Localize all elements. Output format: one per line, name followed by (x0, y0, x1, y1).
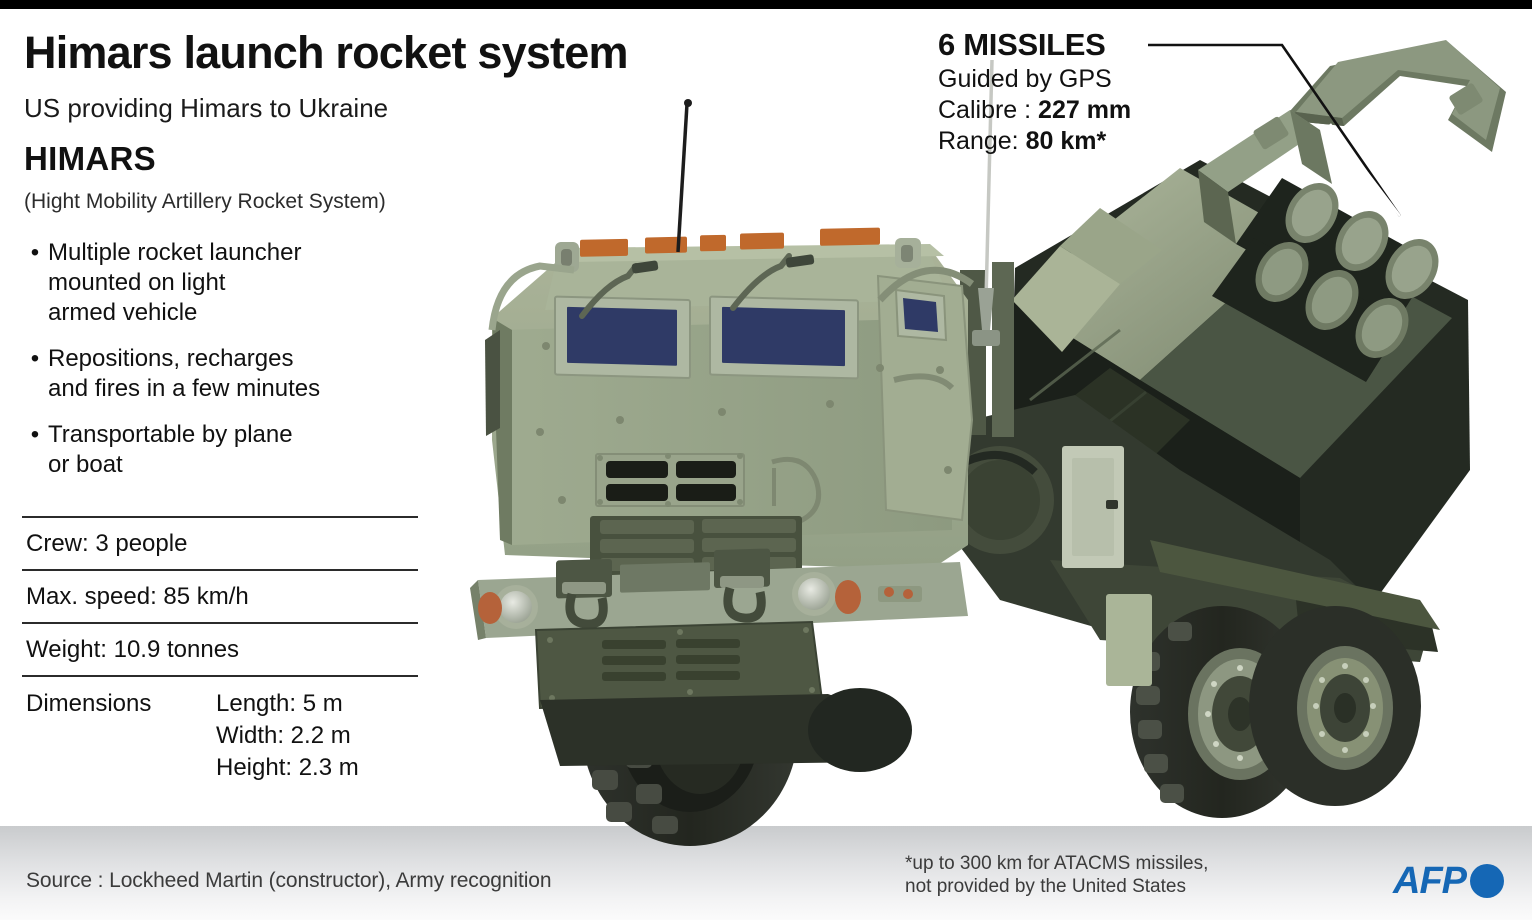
infographic-canvas: Himars launch rocket system US providing… (0, 0, 1532, 920)
himars-vehicle-illustration (0, 0, 1532, 920)
windshield-left (555, 297, 690, 379)
callout-range: Range: 80 km* (938, 126, 1131, 157)
callout-range-value: 80 km* (1026, 127, 1107, 155)
callout-guidance: Guided by GPS (938, 64, 1131, 95)
callout-range-label: Range: (938, 127, 1026, 155)
front-grille (596, 453, 744, 507)
callout-calibre: Calibre : 227 mm (938, 95, 1131, 126)
missiles-callout: 6 MISSILES Guided by GPS Calibre : 227 m… (938, 26, 1131, 157)
armored-cab (485, 228, 972, 576)
front-bumper (470, 548, 968, 772)
antenna-left (678, 104, 687, 252)
callout-calibre-label: Calibre : (938, 96, 1038, 124)
callout-calibre-value: 227 mm (1038, 96, 1131, 124)
callout-heading: 6 MISSILES (938, 26, 1131, 64)
side-window (896, 290, 946, 340)
